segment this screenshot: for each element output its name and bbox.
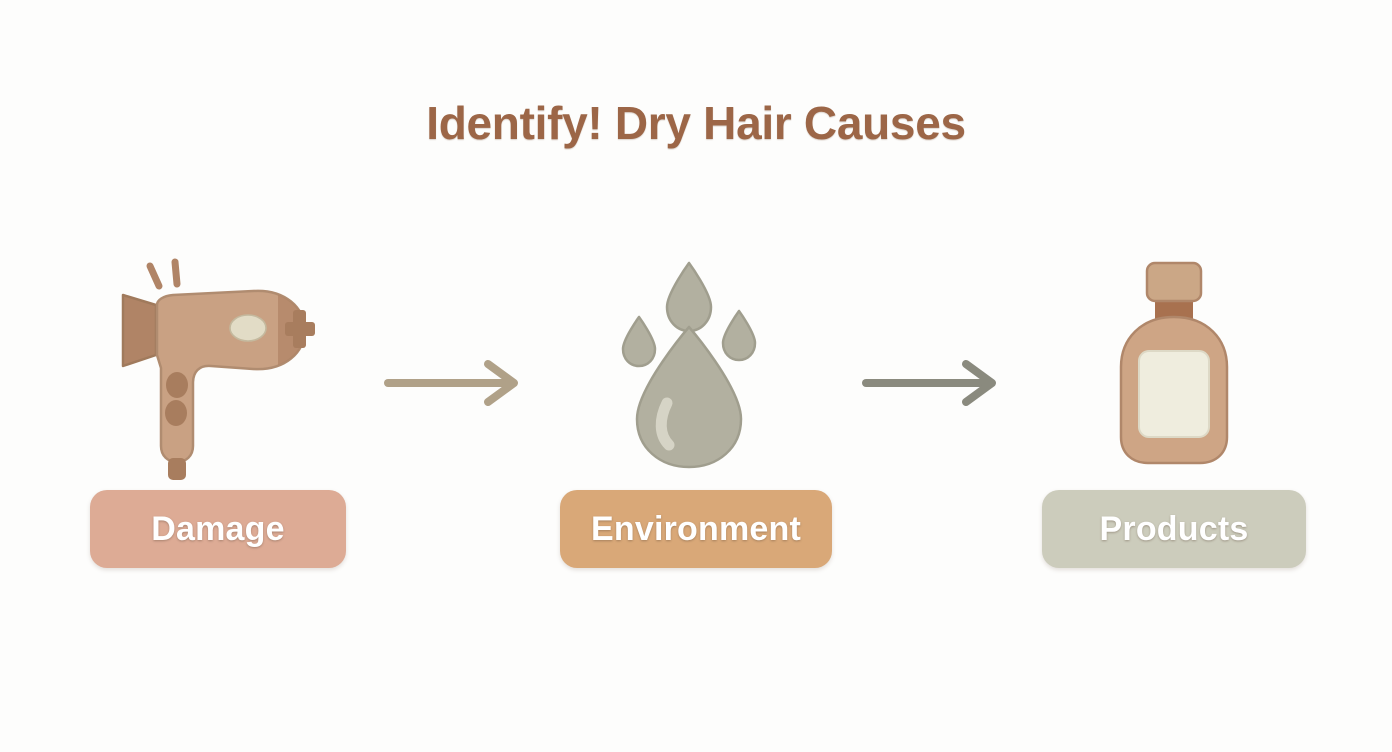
stage-label-damage[interactable]: Damage <box>90 490 346 568</box>
stage-environment[interactable]: Environment <box>546 240 846 600</box>
droplet-top <box>667 263 711 331</box>
arrow-right-icon <box>382 358 532 408</box>
stage-products[interactable]: Products <box>1024 240 1324 600</box>
hair-dryer-icon <box>93 250 343 480</box>
infographic-canvas: Identify! Dry Hair Causes <box>0 0 1392 752</box>
arrow-slot-2 <box>846 240 1024 600</box>
droplet-left <box>623 317 655 366</box>
bottle-label <box>1139 351 1209 437</box>
water-droplets-icon <box>611 255 781 475</box>
product-bottle-icon <box>1099 255 1249 475</box>
droplet-right <box>723 311 755 360</box>
dryer-power-button <box>230 315 266 341</box>
process-flow: Damage <box>0 240 1392 600</box>
bottle-cap <box>1147 263 1201 301</box>
water-droplets-icon-slot <box>546 240 846 490</box>
product-bottle-icon-slot <box>1024 240 1324 490</box>
dryer-nozzle <box>123 295 156 366</box>
stage-label-environment[interactable]: Environment <box>560 490 832 568</box>
arrow-right-icon <box>860 358 1010 408</box>
arrow-slot-1 <box>368 240 546 600</box>
stage-label-products[interactable]: Products <box>1042 490 1306 568</box>
stage-damage[interactable]: Damage <box>68 240 368 600</box>
dryer-switch-lower <box>165 400 187 426</box>
heat-line-marks <box>150 262 177 286</box>
dryer-switch-upper <box>166 372 188 398</box>
page-title: Identify! Dry Hair Causes <box>0 96 1392 150</box>
hair-dryer-icon-slot <box>68 240 368 490</box>
dryer-cord <box>168 458 186 480</box>
